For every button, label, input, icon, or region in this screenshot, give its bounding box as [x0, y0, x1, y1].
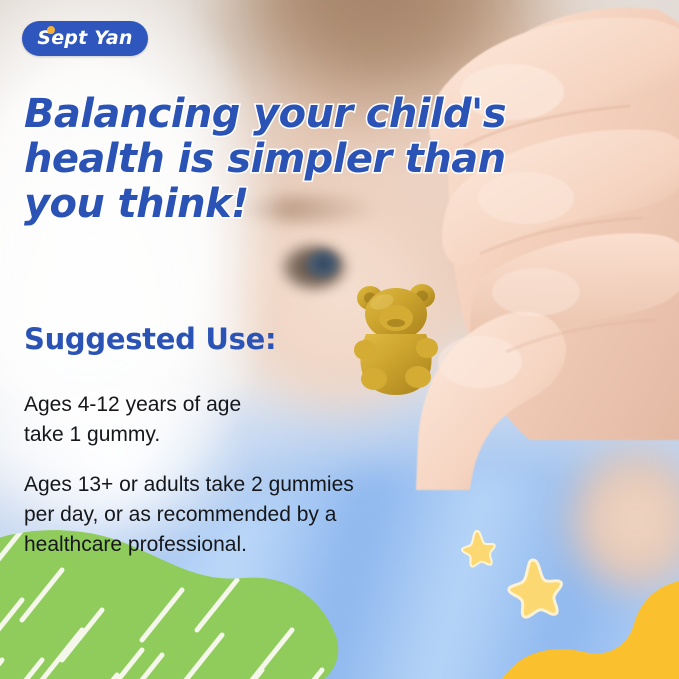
suggested-use-paragraph-1: Ages 4-12 years of age take 1 gummy. — [24, 390, 354, 450]
brand-logo[interactable]: Sept Yan — [22, 21, 148, 56]
product-infographic-card: Sept Yan Balancing your child's health i… — [0, 0, 679, 679]
hand-icon — [330, 0, 679, 490]
page-title: Balancing your child's health is simpler… — [24, 92, 524, 228]
logo-accent-dot-icon — [47, 26, 55, 34]
suggested-use-heading: Suggested Use: — [24, 322, 276, 356]
star-icon — [497, 555, 569, 627]
suggested-use-paragraph-2: Ages 13+ or adults take 2 gummies per da… — [24, 470, 464, 559]
gummy-bear-icon — [348, 278, 444, 400]
